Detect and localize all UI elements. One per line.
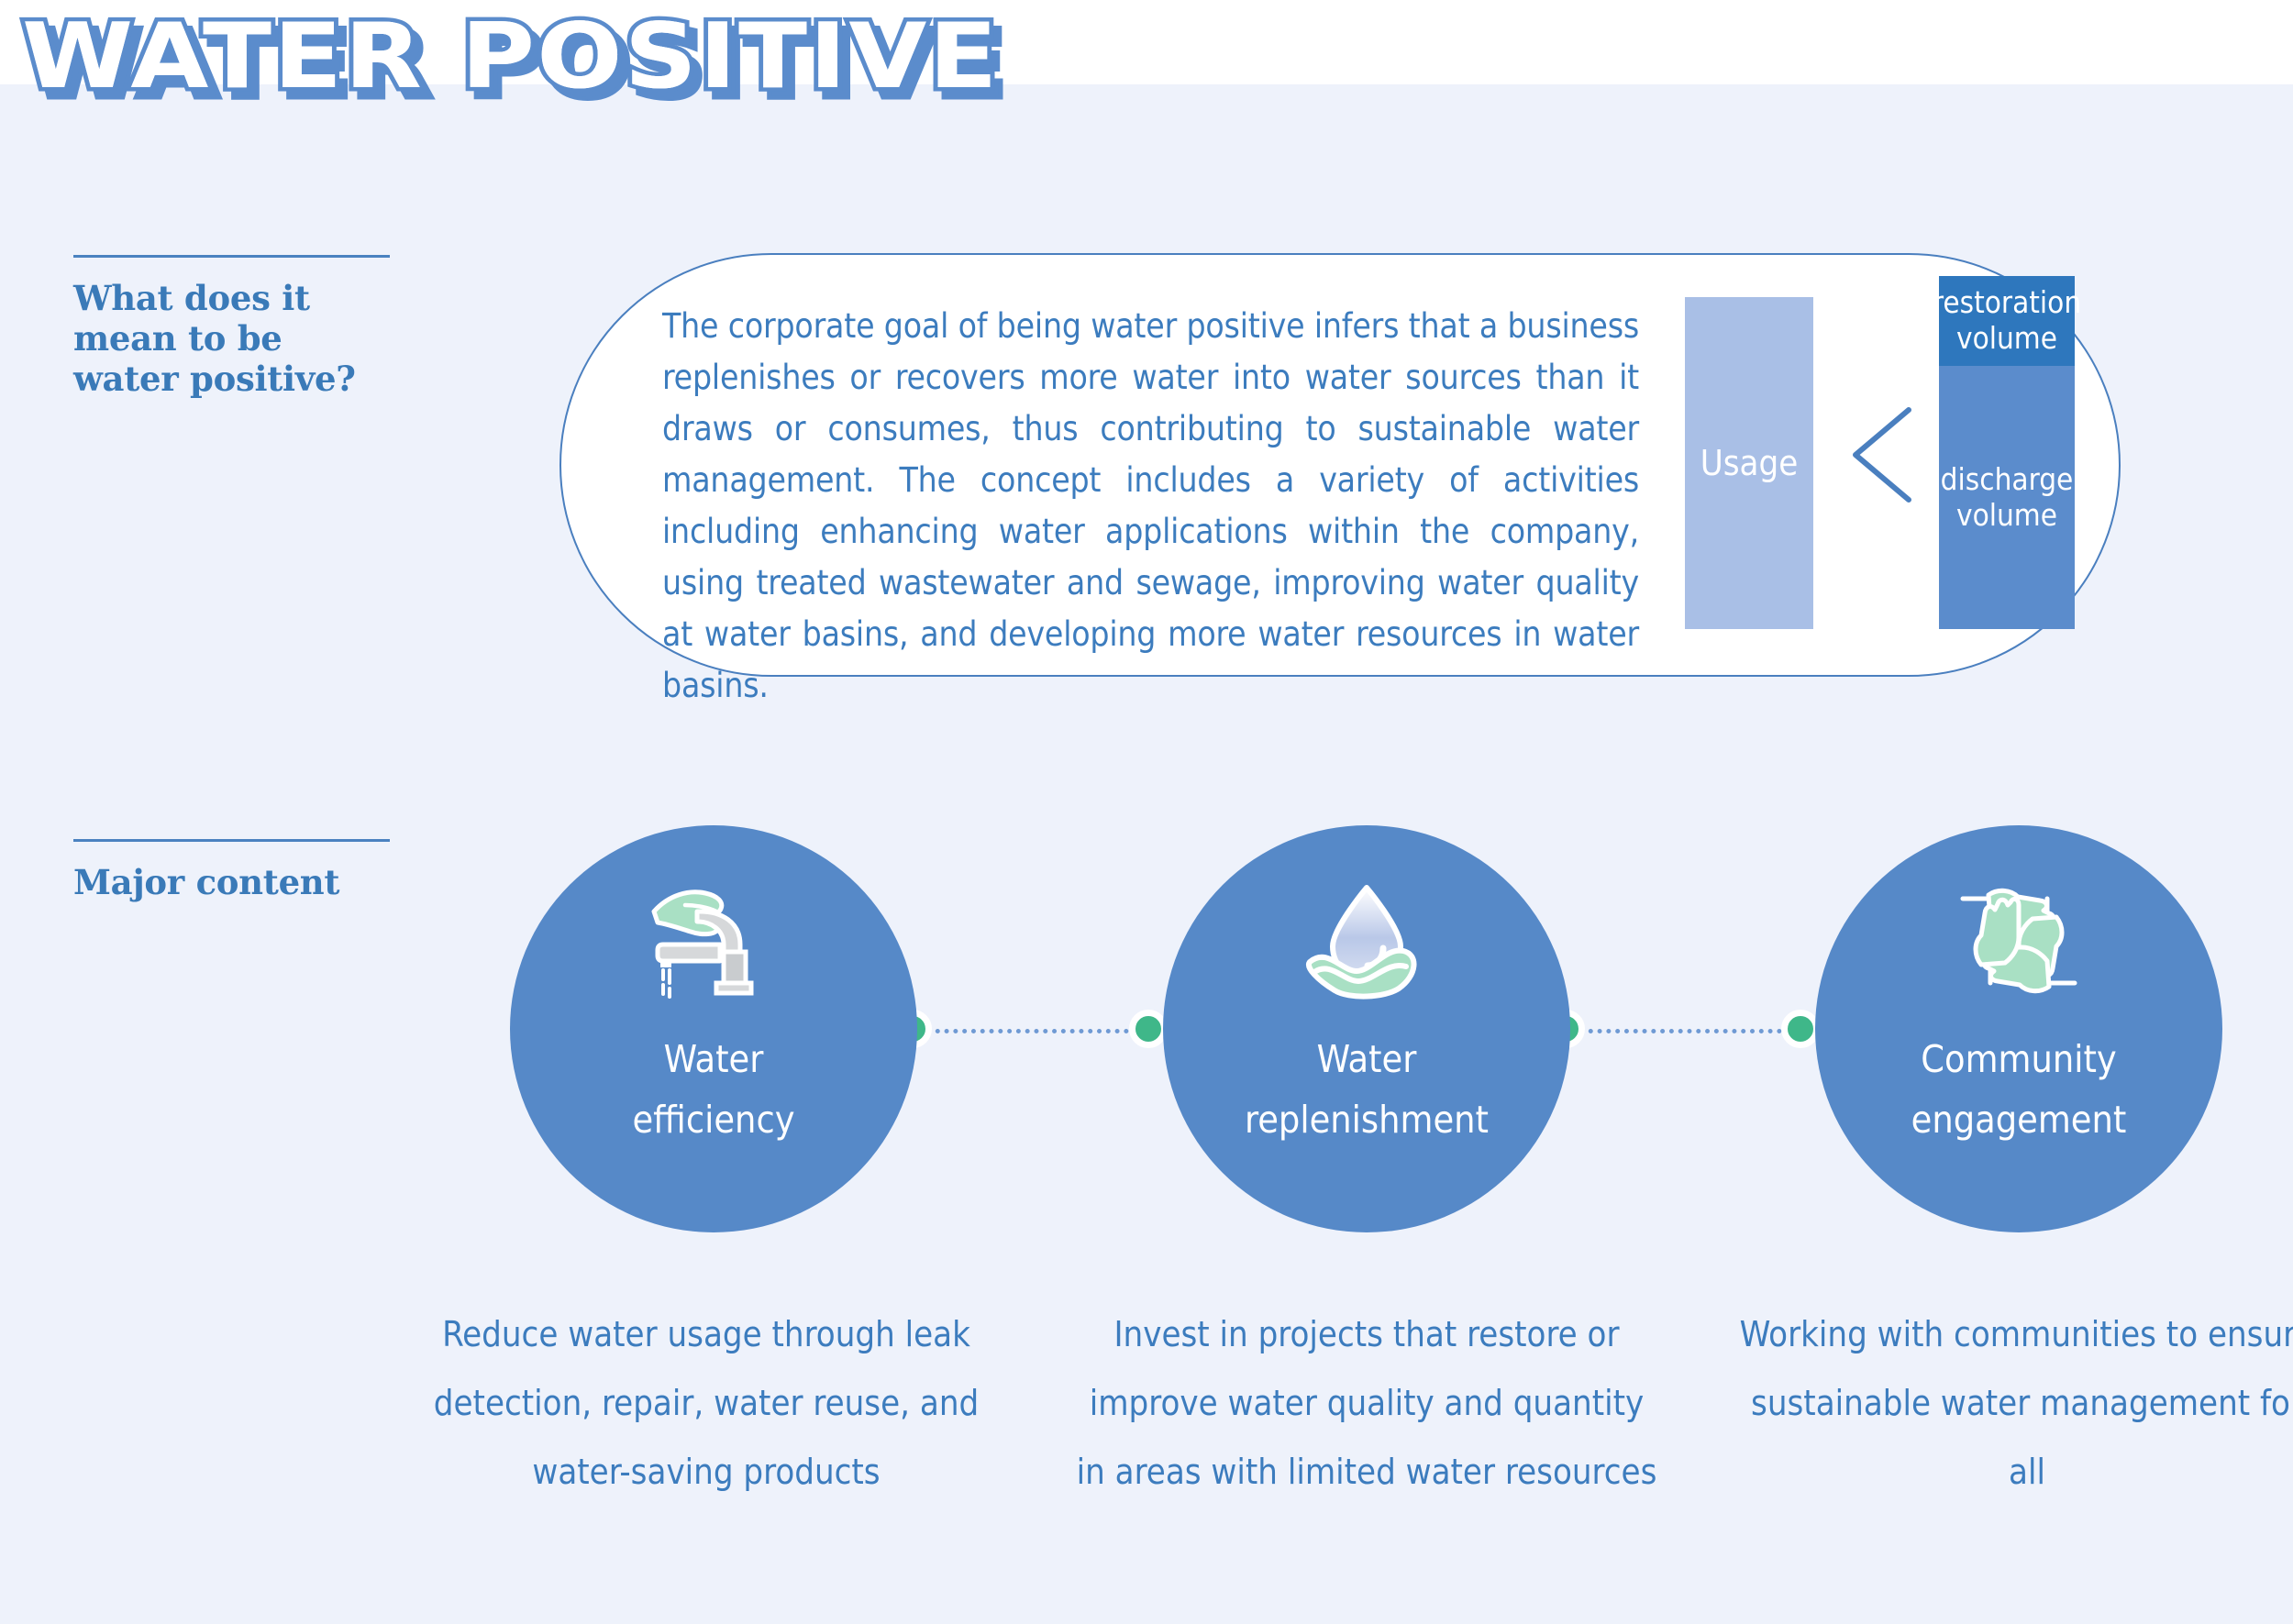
section-label-definition-line1: What does it	[73, 278, 390, 318]
section-label-definition-line3: water positive?	[73, 359, 390, 399]
pillar-caption-3: Working with communities to ensure susta…	[1734, 1300, 2293, 1507]
discharge-bar-label-line1: discharge	[1941, 461, 2074, 497]
discharge-bar-label-line2: volume	[1956, 497, 2057, 533]
pillar-caption-1: Reduce water usage through leak detectio…	[413, 1300, 1000, 1507]
divider-rule-definition	[73, 255, 390, 258]
page-title-fill: WATER POSITIVE	[22, 9, 1000, 105]
connector-node-4	[1781, 1010, 1820, 1048]
pillar-title-1: Water efficiency	[632, 1029, 794, 1150]
definition-card: The corporate goal of being water positi…	[559, 253, 2121, 677]
restoration-bar-label-line1: restoration	[1933, 284, 2081, 320]
pillar-title-1-line2: efficiency	[632, 1098, 794, 1142]
pillar-title-3: Community engagement	[1911, 1029, 2127, 1150]
discharge-volume-bar: discharge volume	[1939, 366, 2075, 629]
pillar-circle-water-efficiency[interactable]: Water efficiency	[510, 825, 917, 1232]
infographic-page: WATER POSITIVE WATER POSITIVE WATER POSI…	[0, 0, 2293, 1624]
pillar-circle-community-engagement[interactable]: Community engagement	[1815, 825, 2222, 1232]
restoration-bar-label-line2: volume	[1956, 320, 2057, 356]
section-label-major-content: Major content	[73, 839, 390, 902]
connector-node-2	[1129, 1010, 1168, 1048]
section-label-major-content-text: Major content	[73, 862, 390, 902]
water-balance-diagram: Usage restoration volume discharge volum…	[1685, 276, 2107, 652]
faucet-hand-icon	[640, 877, 787, 1005]
pillar-title-3-line2: engagement	[1911, 1098, 2127, 1142]
pillar-caption-2: Invest in projects that restore or impro…	[1073, 1300, 1660, 1507]
pillar-title-1-line1: Water	[664, 1037, 764, 1081]
pillar-circle-water-replenishment[interactable]: Water replenishment	[1163, 825, 1570, 1232]
pillar-title-3-line1: Community	[1921, 1037, 2117, 1081]
less-than-icon	[1846, 404, 1916, 505]
connector-line-2	[1579, 1029, 1809, 1033]
pillar-title-2-line1: Water	[1317, 1037, 1417, 1081]
divider-rule-major-content	[73, 839, 390, 842]
definition-paragraph: The corporate goal of being water positi…	[662, 301, 1639, 712]
section-label-definition-line2: mean to be	[73, 318, 390, 359]
pillar-title-2-line2: replenishment	[1245, 1098, 1489, 1142]
connector-line-1	[926, 1029, 1156, 1033]
pillar-title-2: Water replenishment	[1245, 1029, 1489, 1150]
restoration-volume-bar: restoration volume	[1939, 276, 2075, 366]
usage-bar-label: Usage	[1700, 443, 1799, 484]
usage-bar: Usage	[1685, 297, 1813, 629]
four-hands-community-icon	[1945, 877, 2092, 1005]
section-label-definition: What does it mean to be water positive?	[73, 255, 390, 399]
water-droplet-leaf-icon	[1293, 877, 1440, 1005]
